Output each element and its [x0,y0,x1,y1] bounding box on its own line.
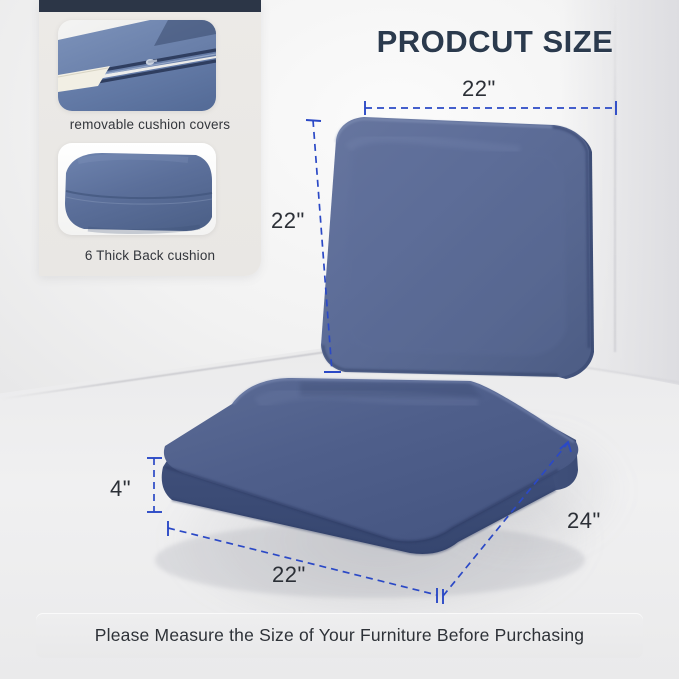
dimension-label-back-width: 22" [462,76,496,102]
page-title: PRODCUT SIZE [345,24,645,60]
dimension-label-back-height: 22" [271,208,305,234]
measure-notice-banner: Please Measure the Size of Your Furnitur… [36,613,643,658]
dimension-label-seat-width: 22" [272,562,306,588]
dimension-label-seat-thickness: 4" [110,476,131,502]
feature-detail-panel: removable cushion covers 6 Thick Back cu… [39,0,261,276]
dimline-seat-depth [443,444,567,596]
dimcap-back-height-top [306,120,321,121]
zipper-photo-svg [58,20,216,111]
panel-top-bar [39,0,261,12]
back-cushion-photo-caption: 6 Thick Back cushion [39,248,261,263]
zipper-detail-photo [58,20,216,111]
back-cushion-photo [58,143,216,235]
dimension-label-seat-depth: 24" [567,508,601,534]
dimline-back-height [313,120,332,372]
back-cushion-photo-svg [58,143,216,235]
zipper-photo-caption: removable cushion covers [39,117,261,132]
measure-notice-text: Please Measure the Size of Your Furnitur… [95,625,584,646]
